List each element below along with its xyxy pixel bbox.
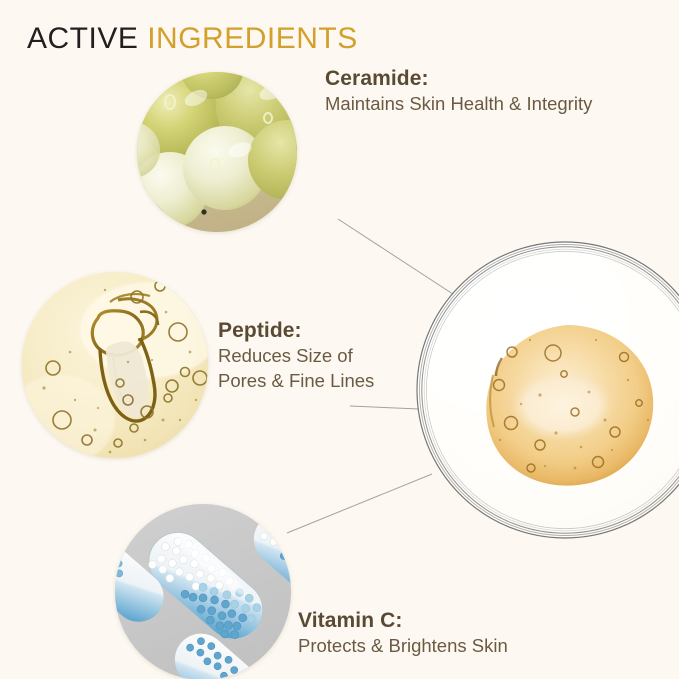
ceramide-description: Maintains Skin Health & Integrity [325,92,592,116]
peptide-image-circle [5,272,220,465]
page-title: ACTIVE INGREDIENTS [27,22,358,56]
hero-petri-dish [390,225,679,538]
connector-line-peptide [350,406,419,409]
peptide-name: Peptide: [218,318,374,344]
label-vitamin-c: Vitamin C: Protects & Brightens Skin [298,608,508,659]
label-ceramide: Ceramide: Maintains Skin Health & Integr… [325,66,592,117]
peptide-description-line-2: Pores & Fine Lines [218,369,374,393]
connector-line-ceramide [338,219,459,298]
label-peptide: Peptide: Reduces Size of Pores & Fine Li… [218,318,374,393]
title-word-active: ACTIVE [27,22,138,55]
connector-line-vitaminc [287,474,432,533]
vitamin-c-name: Vitamin C: [298,608,508,634]
ceramide-image-circle [104,35,328,232]
infographic-canvas: ACTIVE INGREDIENTS Ceramide: Maintains S… [0,0,679,679]
peptide-description-line-1: Reduces Size of [218,344,374,368]
ceramide-name: Ceramide: [325,66,592,92]
title-word-ingredients: INGREDIENTS [147,22,358,55]
vitamin-c-description: Protects & Brightens Skin [298,634,508,658]
